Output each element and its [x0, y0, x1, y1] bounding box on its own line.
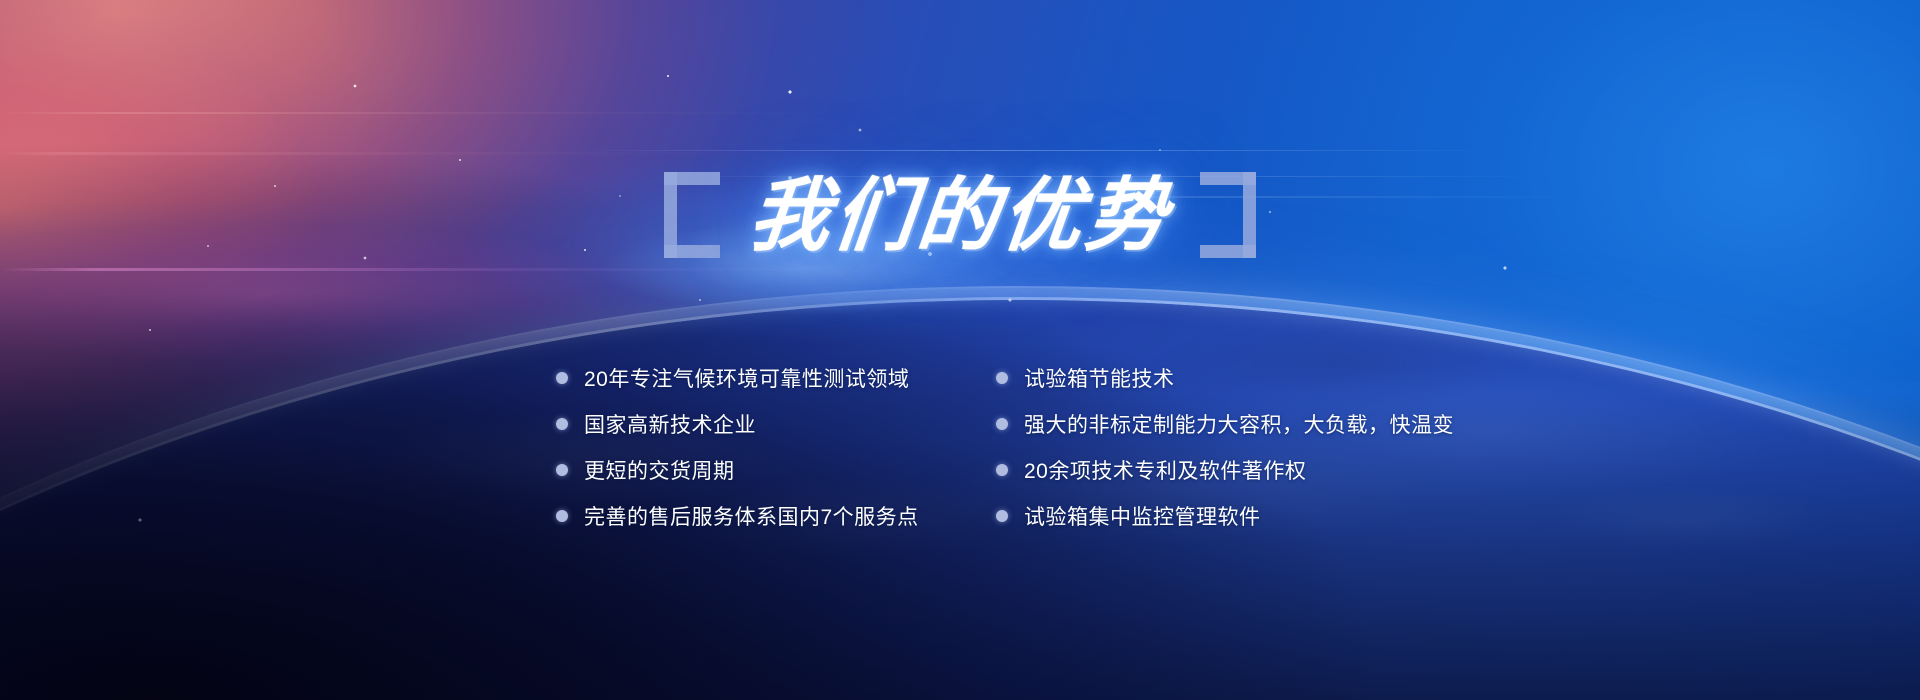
list-item: 20年专注气候环境可靠性测试领域 — [556, 356, 996, 400]
list-item-label: 强大的非标定制能力大容积，大负载，快温变 — [1024, 409, 1454, 439]
page-title: 我们的优势 — [746, 175, 1174, 255]
list-item-label: 20年专注气候环境可靠性测试领域 — [584, 363, 909, 393]
list-item-label: 完善的售后服务体系国内7个服务点 — [584, 501, 919, 531]
bullet-dot-icon — [996, 510, 1008, 522]
bullet-dot-icon — [556, 418, 568, 430]
list-item-label: 试验箱集中监控管理软件 — [1024, 501, 1261, 531]
list-item: 20余项技术专利及软件著作权 — [996, 448, 1686, 492]
bullet-dot-icon — [556, 372, 568, 384]
advantages-banner: 我们的优势 20年专注气候环境可靠性测试领域 国家高新技术企业 更短的交货周期 — [0, 0, 1920, 700]
bullet-dot-icon — [996, 418, 1008, 430]
advantages-right-column: 试验箱节能技术 强大的非标定制能力大容积，大负载，快温变 20余项技术专利及软件… — [996, 356, 1686, 538]
list-item-label: 试验箱节能技术 — [1024, 363, 1175, 393]
list-item: 更短的交货周期 — [556, 448, 996, 492]
advantages-lists: 20年专注气候环境可靠性测试领域 国家高新技术企业 更短的交货周期 完善的售后服… — [556, 356, 1686, 538]
list-item-label: 更短的交货周期 — [584, 455, 735, 485]
bullet-dot-icon — [996, 372, 1008, 384]
bracket-close-icon — [1200, 172, 1256, 258]
list-item: 完善的售后服务体系国内7个服务点 — [556, 494, 996, 538]
list-item: 试验箱集中监控管理软件 — [996, 494, 1686, 538]
list-item: 强大的非标定制能力大容积，大负载，快温变 — [996, 402, 1686, 446]
list-item-label: 20余项技术专利及软件著作权 — [1024, 455, 1306, 485]
bullet-dot-icon — [556, 510, 568, 522]
bullet-dot-icon — [996, 464, 1008, 476]
list-item: 试验箱节能技术 — [996, 356, 1686, 400]
list-item: 国家高新技术企业 — [556, 402, 996, 446]
bracket-open-icon — [664, 172, 720, 258]
advantages-left-column: 20年专注气候环境可靠性测试领域 国家高新技术企业 更短的交货周期 完善的售后服… — [556, 356, 996, 538]
bullet-dot-icon — [556, 464, 568, 476]
list-item-label: 国家高新技术企业 — [584, 409, 756, 439]
banner-content: 我们的优势 20年专注气候环境可靠性测试领域 国家高新技术企业 更短的交货周期 — [0, 0, 1920, 700]
headline-row: 我们的优势 — [0, 160, 1920, 270]
